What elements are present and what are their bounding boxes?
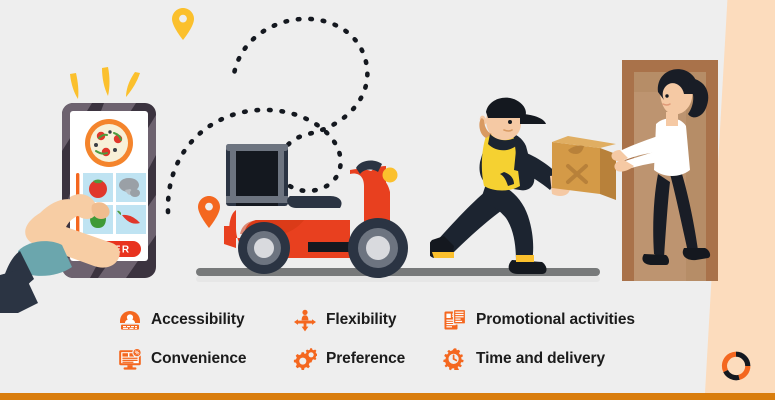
feature-label: Accessibility bbox=[151, 311, 244, 329]
customer-back-shoe bbox=[642, 254, 669, 265]
pizza-illustration bbox=[85, 119, 133, 167]
courier-eye bbox=[508, 120, 512, 124]
hand-holding-phone bbox=[0, 194, 120, 313]
rear-wheel bbox=[238, 222, 290, 274]
feature-label: Time and delivery bbox=[476, 350, 605, 368]
feature-item-accessibility: Accessibility bbox=[118, 308, 293, 332]
preference-icon bbox=[293, 347, 317, 371]
feature-item-promotional-activities: Promotional activities bbox=[443, 308, 658, 332]
front-wheel bbox=[348, 218, 408, 278]
courier-front-leg bbox=[480, 184, 533, 262]
accessibility-icon bbox=[118, 308, 142, 332]
infographic-canvas: ORDER bbox=[0, 0, 775, 400]
map-pin-icon-top bbox=[172, 8, 194, 40]
courier-head bbox=[479, 98, 546, 140]
smartphone-in-hand: ORDER bbox=[0, 55, 200, 315]
scooter-seat bbox=[287, 196, 341, 208]
spark-marks bbox=[70, 67, 140, 99]
feature-list: Accessibility Flexibility bbox=[118, 300, 718, 378]
customer-front-shoe bbox=[683, 248, 710, 260]
feature-label: Promotional activities bbox=[476, 311, 635, 329]
feature-item-time-and-delivery: Time and delivery bbox=[443, 347, 658, 371]
doorway-with-customer bbox=[610, 58, 730, 283]
courier-cap bbox=[486, 98, 526, 118]
delivery-courier bbox=[430, 90, 630, 280]
headlight bbox=[383, 168, 398, 183]
feature-label: Flexibility bbox=[326, 311, 396, 329]
feature-item-convenience: % Convenience bbox=[118, 347, 293, 371]
convenience-icon: % bbox=[118, 347, 142, 371]
feature-label: Preference bbox=[326, 350, 405, 368]
promotional-activities-icon bbox=[443, 308, 467, 332]
feature-item-flexibility: Flexibility bbox=[293, 308, 443, 332]
courier-cap-brim bbox=[520, 114, 546, 124]
ring-logo[interactable] bbox=[721, 351, 751, 381]
feature-item-preference: Preference bbox=[293, 347, 443, 371]
courier-front-shoe bbox=[509, 255, 547, 274]
delivery-scooter bbox=[200, 130, 450, 280]
time-and-delivery-icon bbox=[443, 347, 467, 371]
flexibility-icon bbox=[293, 308, 317, 332]
svg-text:%: % bbox=[135, 350, 140, 356]
scooter-delivery-box bbox=[226, 144, 288, 206]
feature-label: Convenience bbox=[151, 350, 246, 368]
customer-eye bbox=[665, 94, 668, 97]
